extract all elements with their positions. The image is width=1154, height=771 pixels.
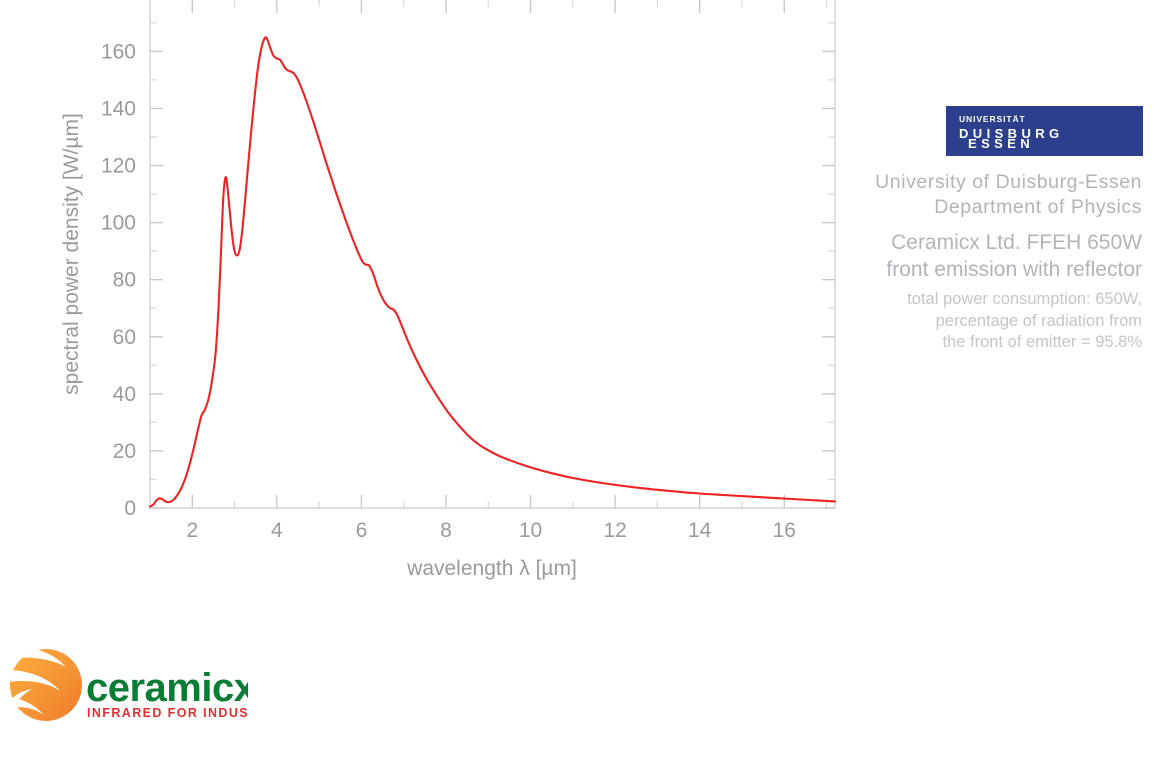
y-axis-major-ticks [150,51,163,508]
x-axis-tick-labels: 246810121416 [186,519,795,542]
y-tick-label: 100 [101,212,136,235]
ceramicx-wordmark: ceramicx [86,666,248,710]
spectral-curve [150,37,835,506]
y-tick-label: 120 [101,155,136,178]
x-tick-label: 8 [440,519,452,542]
product-line-2: front emission with reflector [862,256,1142,283]
details-line-2: percentage of radiation from [862,311,1142,333]
y-axis-tick-labels: 020406080100120140160 [101,40,136,520]
plot-frame [150,0,835,508]
x-tick-label: 10 [519,519,542,542]
ceramicx-logo-svg: ceramicx INFRARED FOR INDUSTRY [8,645,248,727]
x-tick-label: 16 [773,519,796,542]
institution-line-1: University of Duisburg-Essen [862,170,1142,195]
university-duisburg-essen-logo: UNIVERSITÄT DUISBURG ESSEN [946,106,1143,156]
y-axis-minor-ticks [150,23,835,480]
ceramicx-logo: ceramicx INFRARED FOR INDUSTRY [8,645,248,727]
x-tick-label: 12 [603,519,626,542]
ceramicx-tagline: INFRARED FOR INDUSTRY [87,706,248,720]
y-tick-label: 140 [101,97,136,120]
y-axis-right-ticks [822,51,835,508]
product-line-1: Ceramicx Ltd. FFEH 650W [862,229,1142,256]
swoosh-icon [8,646,82,723]
spectral-power-density-chart: 020406080100120140160 246810121416 wavel… [0,0,860,600]
y-tick-label: 40 [113,383,136,406]
logo-essen-text: ESSEN [968,136,1034,151]
details-line-3: the front of emitter = 95.8% [862,332,1142,354]
y-tick-label: 80 [113,269,136,292]
y-tick-label: 20 [113,440,136,463]
details-line-1: total power consumption: 650W, [862,289,1142,311]
x-axis-title: wavelength λ [µm] [406,557,577,580]
logo-universitaet-text: UNIVERSITÄT [959,114,1026,124]
institution-line-2: Department of Physics [862,195,1142,220]
y-axis-title: spectral power density [W/µm] [60,113,83,395]
x-axis-minor-ticks [150,0,827,508]
x-axis-major-ticks [192,0,784,508]
institution-block: University of Duisburg-Essen Department … [862,170,1142,220]
chart-svg: 020406080100120140160 246810121416 wavel… [0,0,860,600]
y-tick-label: 0 [124,497,136,520]
x-tick-label: 2 [186,519,198,542]
y-tick-label: 160 [101,40,136,63]
product-title-block: Ceramicx Ltd. FFEH 650W front emission w… [862,229,1142,283]
x-tick-label: 6 [356,519,368,542]
x-tick-label: 4 [271,519,283,542]
info-panel: UNIVERSITÄT DUISBURG ESSEN University of… [862,0,1154,771]
y-tick-label: 60 [113,326,136,349]
x-tick-label: 14 [688,519,712,542]
measurement-details-block: total power consumption: 650W, percentag… [862,289,1142,354]
